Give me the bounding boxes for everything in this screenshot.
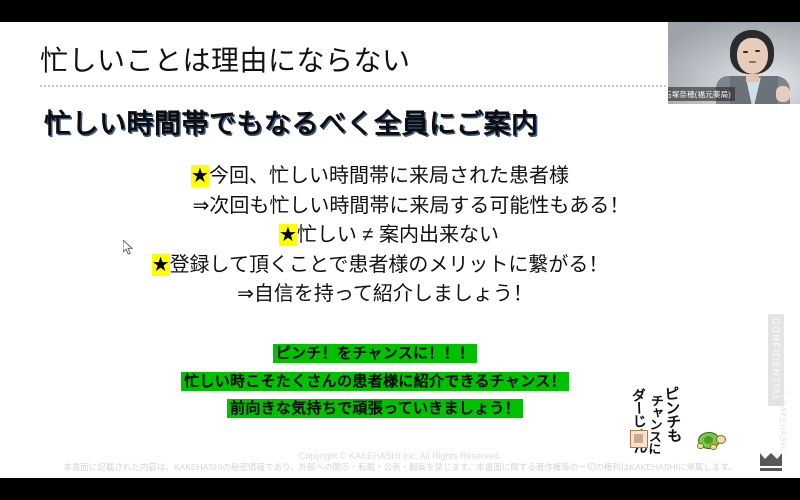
- body-line: ★今回、忙しい時間帯に来局された患者様: [0, 162, 760, 192]
- seal-stamp-icon: [630, 430, 648, 448]
- body-line-text: 今回、忙しい時間帯に来局された患者様: [209, 165, 569, 187]
- kakehashi-logo-icon: [760, 453, 784, 473]
- body-line: ★忙しい ≠ 案内出来ない: [0, 221, 760, 251]
- brush-text-line1: ピンチも: [662, 386, 682, 443]
- body-line-text: 忙しい ≠ 案内出来ない: [297, 224, 499, 246]
- slide-title: 忙しいことは理由にならない: [40, 46, 411, 77]
- screen: 忙しいことは理由にならない 忙しい時間帯でもなるべく全員にご案内 ★今回、忙しい…: [0, 0, 800, 500]
- letterbox-top: [0, 0, 800, 22]
- brush-text-line2: チャンスに: [646, 394, 663, 455]
- letterbox-bottom: [0, 478, 800, 500]
- title-divider: [40, 85, 758, 87]
- star-bullet-icon: ★: [191, 165, 209, 187]
- highlight-text: ピンチ！をチャンスに！！！: [273, 344, 477, 363]
- star-bullet-icon: ★: [279, 224, 297, 246]
- body-line: ⇒自信を持って紹介しましょう！: [0, 280, 760, 310]
- body-line: ★登録して頂くことで患者様のメリットに繋がる！: [0, 251, 760, 281]
- turtle-icon: [694, 430, 724, 450]
- body-line: ⇒次回も忙しい時間帯に来局する可能性もある！: [0, 192, 760, 222]
- side-copyright: © KAKEHASHI Inc.: [769, 388, 787, 454]
- star-bullet-icon: ★: [152, 254, 170, 276]
- video-participant-tile[interactable]: 石塚奈穂(福元薬局): [668, 22, 800, 104]
- body-line-text: ⇒自信を持って紹介しましょう！: [237, 283, 533, 305]
- confidential-watermark: CONFIDENTIAL © KAKEHASHI Inc.: [766, 314, 790, 454]
- participant-name-label: 石塚奈穂(福元薬局): [668, 87, 735, 101]
- slide-footer: Copyright © KAKEHASHI Inc. All Rights Re…: [0, 450, 800, 474]
- highlight-text: 前向きな気持ちで頑張っていきましょう！: [227, 399, 523, 418]
- slide-subtitle: 忙しい時間帯でもなるべく全員にご案内: [44, 102, 538, 141]
- mouse-cursor-icon: [123, 240, 135, 256]
- body-line-text: ⇒次回も忙しい時間帯に来局する可能性もある！: [193, 195, 630, 217]
- highlight-text: 忙しい時こそたくさんの患者様に紹介できるチャンス！: [181, 372, 569, 391]
- footer-copyright: Copyright © KAKEHASHI Inc. All Rights Re…: [0, 450, 800, 462]
- body-line-text: 登録して頂くことで患者様のメリットに繋がる！: [170, 254, 609, 276]
- footer-confidential-notice: 本書面に記載された内容は、KAKEHASHIの秘密情報であり、外部への開示・転載…: [0, 462, 800, 473]
- slide-body: ★今回、忙しい時間帯に来局された患者様 ⇒次回も忙しい時間帯に来局する可能性もあ…: [0, 162, 760, 310]
- highlight-line: ピンチ！をチャンスに！！！: [0, 340, 750, 368]
